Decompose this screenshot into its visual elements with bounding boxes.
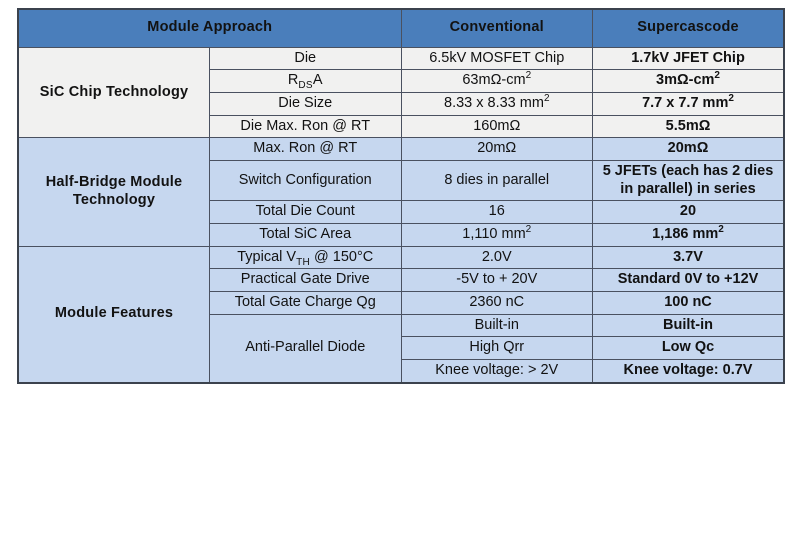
- group-cell-sic-chip-technology: SiC Chip Technology: [18, 47, 210, 138]
- param-die: Die: [210, 47, 402, 70]
- param-max-ron-rt: Max. Ron @ RT: [210, 138, 402, 161]
- value-conventional-die-size: 8.33 x 8.33 mm2: [401, 92, 593, 115]
- value-supercascode-diode-knee-voltage: Knee voltage: 0.7V: [593, 360, 785, 383]
- header-conventional: Conventional: [401, 9, 593, 47]
- param-switch-configuration: Switch Configuration: [210, 160, 402, 200]
- value-conventional-rds-a: 63mΩ-cm2: [401, 70, 593, 93]
- group-cell-half-bridge-module-technology: Half-Bridge Module Technology: [18, 138, 210, 246]
- header-supercascode: Supercascode: [593, 9, 785, 47]
- param-die-size: Die Size: [210, 92, 402, 115]
- table-row: Half-Bridge Module Technology Max. Ron @…: [18, 138, 784, 161]
- param-total-die-count: Total Die Count: [210, 201, 402, 224]
- value-supercascode-switch-configuration: 5 JFETs (each has 2 dies in parallel) in…: [593, 160, 785, 200]
- table-header: Module Approach Conventional Supercascod…: [18, 9, 784, 47]
- value-conventional-total-sic-area: 1,110 mm2: [401, 224, 593, 247]
- value-conventional-diode-builtin: Built-in: [401, 314, 593, 337]
- value-conventional-switch-configuration: 8 dies in parallel: [401, 160, 593, 200]
- value-supercascode-die-max-ron: 5.5mΩ: [593, 115, 785, 138]
- value-supercascode-max-ron: 20mΩ: [593, 138, 785, 161]
- value-conventional-diode-qrr: High Qrr: [401, 337, 593, 360]
- module-comparison-table: Module Approach Conventional Supercascod…: [17, 8, 785, 384]
- param-total-sic-area: Total SiC Area: [210, 224, 402, 247]
- table-body: SiC Chip Technology Die 6.5kV MOSFET Chi…: [18, 47, 784, 383]
- param-total-gate-charge: Total Gate Charge Qg: [210, 292, 402, 315]
- value-supercascode-die-size: 7.7 x 7.7 mm2: [593, 92, 785, 115]
- value-supercascode-rds-a: 3mΩ-cm2: [593, 70, 785, 93]
- value-conventional-die: 6.5kV MOSFET Chip: [401, 47, 593, 70]
- param-anti-parallel-diode: Anti-Parallel Diode: [210, 314, 402, 383]
- superscript-2: 2: [714, 70, 720, 81]
- value-supercascode-total-die-count: 20: [593, 201, 785, 224]
- param-rds-a: RDSA: [210, 70, 402, 93]
- subscript-ds: DS: [298, 80, 313, 91]
- value-supercascode-diode-builtin: Built-in: [593, 314, 785, 337]
- value-supercascode-typical-vth: 3.7V: [593, 246, 785, 269]
- header-row: Module Approach Conventional Supercascod…: [18, 9, 784, 47]
- superscript-2: 2: [728, 93, 734, 104]
- superscript-2: 2: [718, 224, 724, 235]
- table-row: Module Features Typical VTH @ 150°C 2.0V…: [18, 246, 784, 269]
- param-typical-vth: Typical VTH @ 150°C: [210, 246, 402, 269]
- table-row: SiC Chip Technology Die 6.5kV MOSFET Chi…: [18, 47, 784, 70]
- screenshot-root: Module Approach Conventional Supercascod…: [0, 0, 800, 552]
- value-conventional-diode-knee-voltage: Knee voltage: > 2V: [401, 360, 593, 383]
- group-cell-module-features: Module Features: [18, 246, 210, 383]
- value-supercascode-total-sic-area: 1,186 mm2: [593, 224, 785, 247]
- subscript-th: TH: [296, 257, 310, 268]
- value-conventional-typical-vth: 2.0V: [401, 246, 593, 269]
- header-module-approach: Module Approach: [18, 9, 401, 47]
- value-supercascode-die: 1.7kV JFET Chip: [593, 47, 785, 70]
- param-die-max-ron-rt: Die Max. Ron @ RT: [210, 115, 402, 138]
- value-conventional-die-max-ron: 160mΩ: [401, 115, 593, 138]
- superscript-2: 2: [526, 70, 532, 81]
- value-supercascode-diode-qc: Low Qc: [593, 337, 785, 360]
- superscript-2: 2: [544, 93, 550, 104]
- value-conventional-total-gate-charge: 2360 nC: [401, 292, 593, 315]
- value-supercascode-total-gate-charge: 100 nC: [593, 292, 785, 315]
- value-conventional-practical-gate-drive: -5V to + 20V: [401, 269, 593, 292]
- value-conventional-max-ron: 20mΩ: [401, 138, 593, 161]
- value-conventional-total-die-count: 16: [401, 201, 593, 224]
- superscript-2: 2: [526, 224, 532, 235]
- param-practical-gate-drive: Practical Gate Drive: [210, 269, 402, 292]
- value-supercascode-practical-gate-drive: Standard 0V to +12V: [593, 269, 785, 292]
